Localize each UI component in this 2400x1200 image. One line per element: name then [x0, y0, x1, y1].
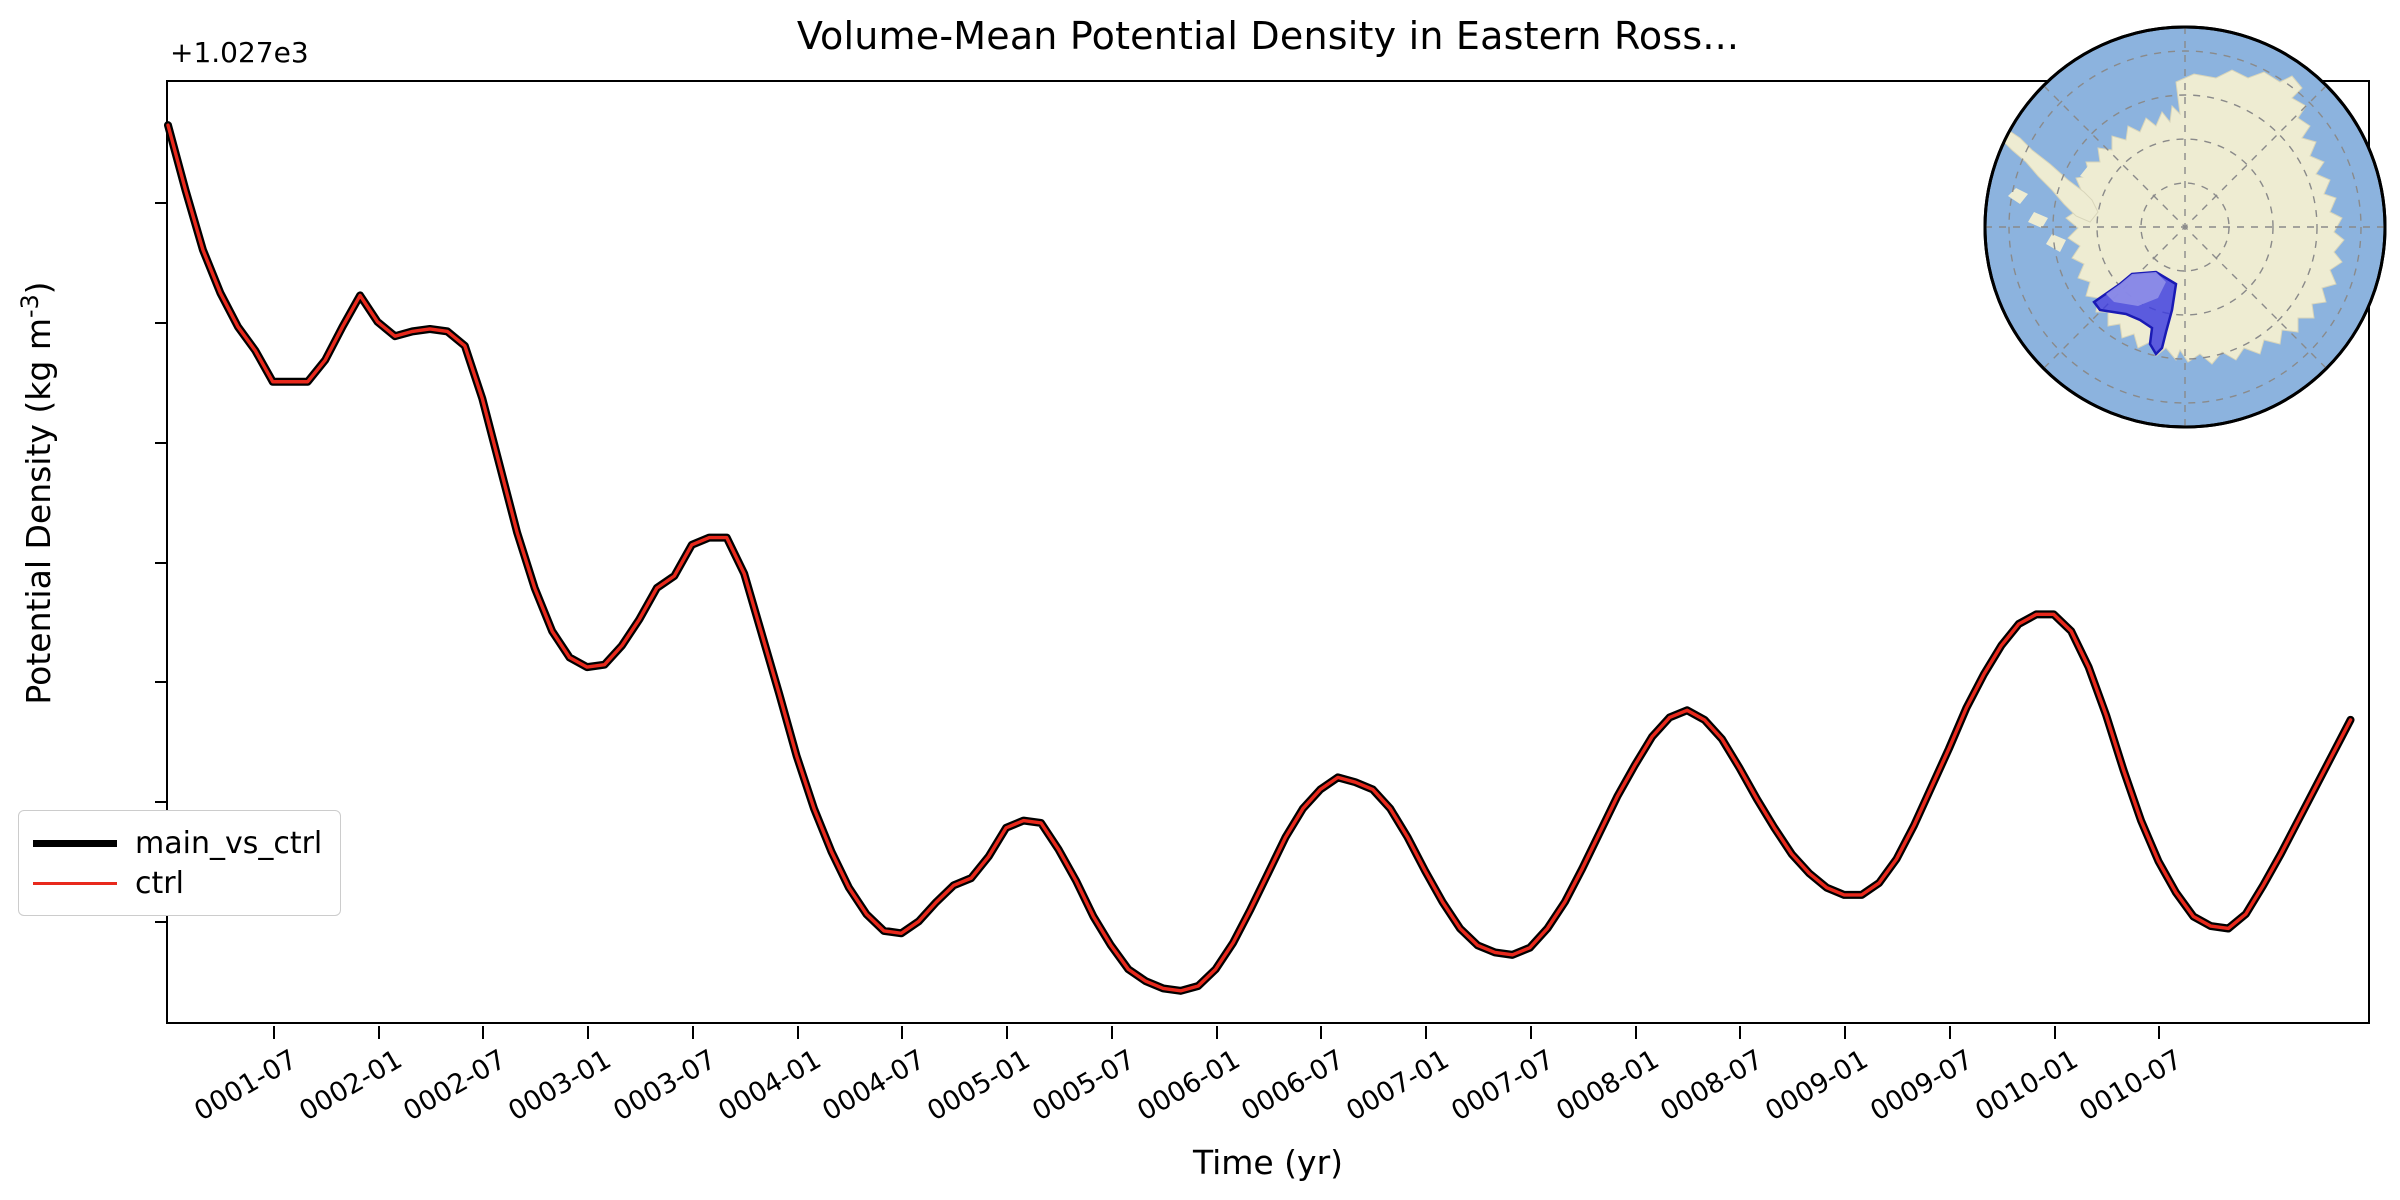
x-axis-tick [1425, 1026, 1427, 1039]
x-axis-tick [1216, 1026, 1218, 1039]
y-axis-label-exponent: -3 [16, 294, 44, 318]
x-axis-tick [1739, 1026, 1741, 1039]
y-axis-tick [155, 442, 168, 444]
y-axis-tick [155, 202, 168, 204]
antarctica-polar-inset-map [1980, 22, 2390, 432]
x-axis-tick [1006, 1026, 1008, 1039]
x-axis-tick [1111, 1026, 1113, 1039]
x-axis-tick [1530, 1026, 1532, 1039]
y-axis-offset-text: +1.027e3 [170, 36, 309, 69]
x-axis-tick [797, 1026, 799, 1039]
x-axis-tick [692, 1026, 694, 1039]
y-axis-label-tail: ) [19, 281, 58, 294]
legend-item-ctrl[interactable]: ctrl [33, 863, 322, 903]
inset-landmass-group [1985, 27, 2385, 427]
legend-label-main-vs-ctrl: main_vs_ctrl [135, 826, 322, 861]
line-swatch-ctrl-icon [33, 882, 117, 885]
x-axis-tick [1949, 1026, 1951, 1039]
x-axis-tick [1635, 1026, 1637, 1039]
x-axis-tick [273, 1026, 275, 1039]
y-axis-tick [155, 921, 168, 923]
x-axis-tick [482, 1026, 484, 1039]
x-axis-tick [2158, 1026, 2160, 1039]
figure-canvas: Volume-Mean Potential Density in Eastern… [0, 0, 2400, 1200]
line-swatch-main-icon [33, 840, 117, 847]
y-axis-tick [155, 562, 168, 564]
legend-box[interactable]: main_vs_ctrl ctrl [18, 810, 341, 916]
x-axis-tick [901, 1026, 903, 1039]
x-axis-tick [1320, 1026, 1322, 1039]
legend-item-main-vs-ctrl[interactable]: main_vs_ctrl [33, 823, 322, 863]
x-axis-tick [378, 1026, 380, 1039]
y-axis-tick [155, 801, 168, 803]
x-axis-tick [1844, 1026, 1846, 1039]
legend-label-ctrl: ctrl [135, 866, 184, 901]
y-axis-label-text: Potential Density (kg m [19, 318, 58, 705]
y-axis-tick [155, 681, 168, 683]
x-axis-tick [587, 1026, 589, 1039]
graticule [1985, 27, 2385, 427]
y-axis-tick [155, 322, 168, 324]
x-axis-tick [2054, 1026, 2056, 1039]
